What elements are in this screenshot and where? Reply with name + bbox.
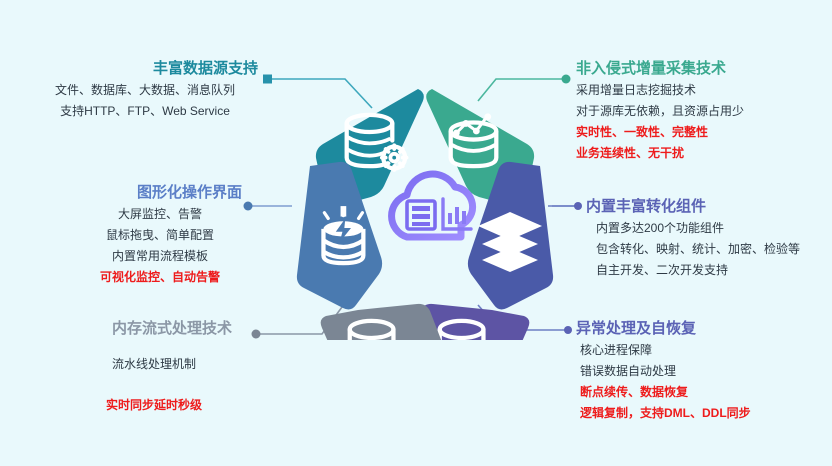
segment-mem[interactable] bbox=[321, 304, 447, 340]
feature-title-err: 异常处理及自恢复 bbox=[576, 318, 832, 340]
server-rack-icon bbox=[407, 201, 435, 229]
feature-line-emphasis: 逻辑复制，支持DML、DDL同步 bbox=[576, 403, 832, 424]
feature-line: 支持HTTP、FTP、Web Service bbox=[20, 101, 270, 122]
feature-title-ui: 图形化操作界面 bbox=[30, 182, 270, 204]
feature-title-comp: 内置丰富转化组件 bbox=[586, 196, 832, 218]
feature-line: 鼠标拖曳、简单配置 bbox=[30, 225, 270, 246]
feature-title-mem: 内存流式处理技术 bbox=[20, 318, 270, 340]
connector-dot-err bbox=[564, 326, 572, 334]
feature-line: 采用增量日志挖掘技术 bbox=[576, 80, 832, 101]
feature-title-source: 丰富数据源支持 bbox=[20, 58, 270, 80]
feature-block-comp: 内置丰富转化组件 内置多达200个功能组件 包含转化、映射、统计、加密、检验等 … bbox=[586, 196, 832, 281]
cloud-analytics-icon bbox=[392, 174, 473, 237]
feature-line: 内置多达200个功能组件 bbox=[586, 218, 832, 239]
feature-title-cdc: 非入侵式增量采集技术 bbox=[576, 58, 832, 80]
feature-line-emphasis: 实时性、一致性、完整性 bbox=[576, 122, 832, 143]
feature-block-err: 异常处理及自恢复 核心进程保障 错误数据自动处理 断点续传、数据恢复 逻辑复制，… bbox=[576, 318, 832, 424]
feature-line: 对于源库无依赖，且资源占用少 bbox=[576, 101, 832, 122]
feature-block-mem: 内存流式处理技术 流水线处理机制 实时同步延时秒级 bbox=[20, 318, 270, 416]
feature-line: 流水线处理机制 bbox=[20, 354, 270, 375]
feature-line: 核心进程保障 bbox=[576, 340, 832, 361]
hexagonal-wheel bbox=[285, 60, 565, 340]
feature-line: 大屏监控、告警 bbox=[30, 204, 270, 225]
feature-block-ui: 图形化操作界面 大屏监控、告警 鼠标拖曳、简单配置 内置常用流程模板 可视化监控… bbox=[30, 182, 270, 288]
feature-line: 错误数据自动处理 bbox=[576, 361, 832, 382]
feature-block-cdc: 非入侵式增量采集技术 采用增量日志挖掘技术 对于源库无依赖，且资源占用少 实时性… bbox=[576, 58, 832, 164]
feature-line: 文件、数据库、大数据、消息队列 bbox=[20, 80, 270, 101]
connector-dot-comp bbox=[574, 202, 582, 210]
feature-line: 包含转化、映射、统计、加密、检验等 bbox=[586, 239, 832, 260]
infographic-canvas: 丰富数据源支持 文件、数据库、大数据、消息队列 支持HTTP、FTP、Web S… bbox=[0, 0, 832, 466]
feature-line: 内置常用流程模板 bbox=[30, 246, 270, 267]
feature-line-emphasis: 可视化监控、自动告警 bbox=[30, 267, 270, 288]
feature-block-source: 丰富数据源支持 文件、数据库、大数据、消息队列 支持HTTP、FTP、Web S… bbox=[20, 58, 270, 122]
feature-line-emphasis: 实时同步延时秒级 bbox=[20, 395, 270, 416]
feature-line-emphasis: 断点续传、数据恢复 bbox=[576, 382, 832, 403]
feature-line: 自主开发、二次开发支持 bbox=[586, 260, 832, 281]
feature-line-emphasis: 业务连续性、无干扰 bbox=[576, 143, 832, 164]
